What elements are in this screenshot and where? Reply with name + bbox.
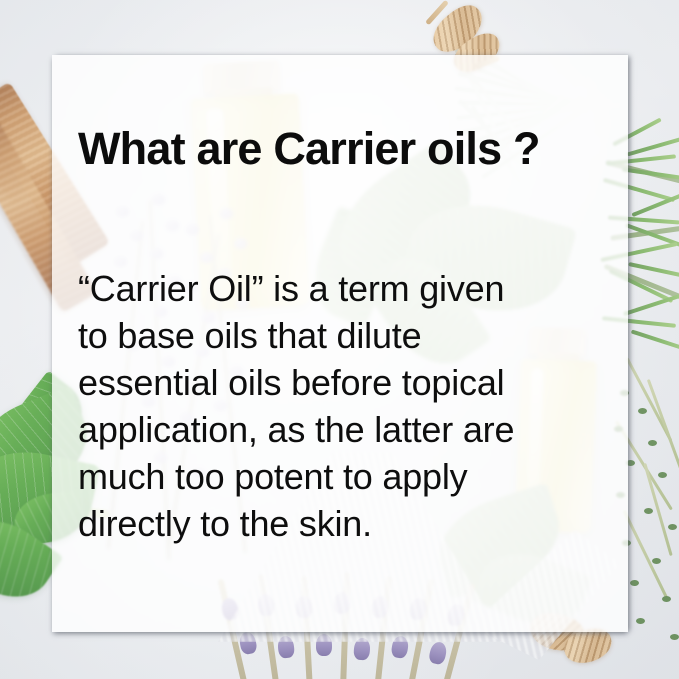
image-canvas: What are Carrier oils ? “Carrier Oil” is… — [0, 0, 679, 679]
text-overlay-card: What are Carrier oils ? “Carrier Oil” is… — [52, 55, 628, 632]
body-paragraph: “Carrier Oil” is a term given to base oi… — [78, 265, 608, 547]
page-title: What are Carrier oils ? — [78, 123, 540, 175]
